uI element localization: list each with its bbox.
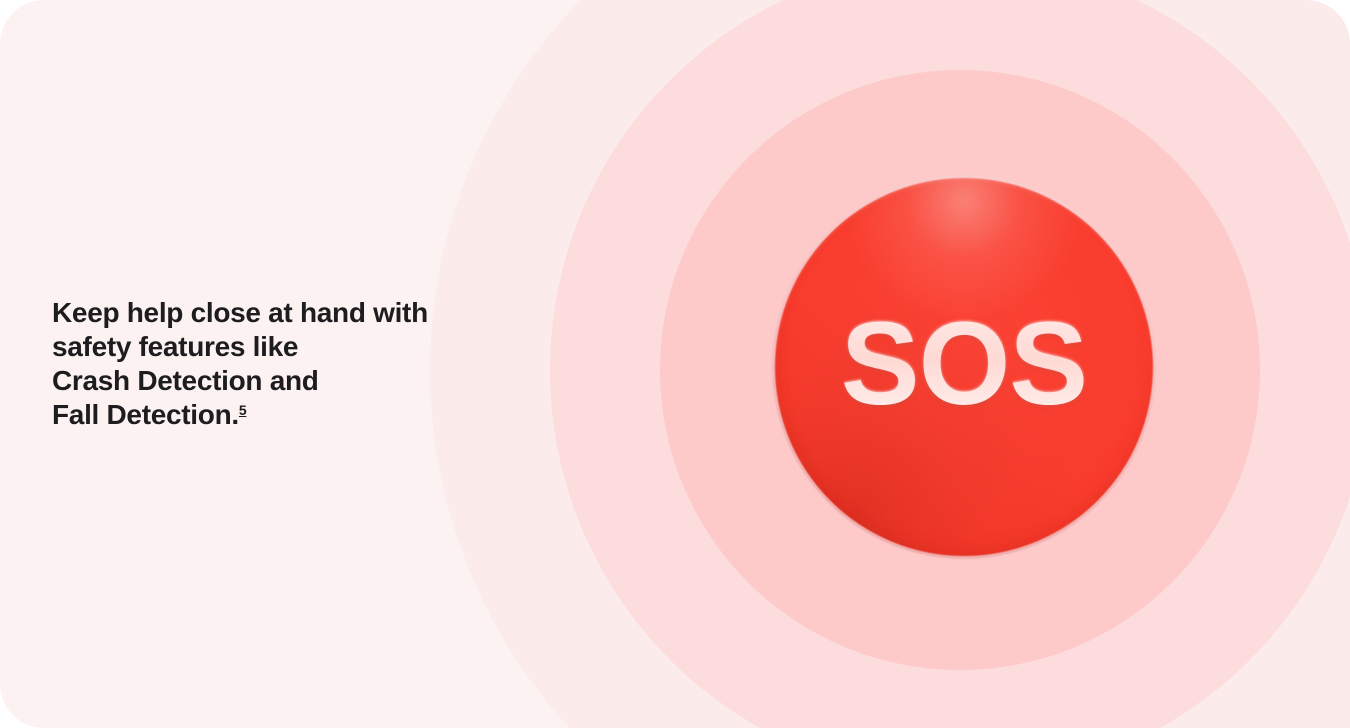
- safety-feature-panel: Keep help close at hand with safety feat…: [0, 0, 1350, 728]
- headline: Keep help close at hand with safety feat…: [52, 296, 522, 432]
- headline-line-1: Keep help close at hand with: [52, 296, 522, 330]
- sos-button[interactable]: SOS: [775, 178, 1153, 556]
- sos-button-label: SOS: [775, 178, 1153, 556]
- headline-line-3: Crash Detection and: [52, 364, 522, 398]
- footnote-reference-link[interactable]: 5: [239, 402, 247, 418]
- headline-line-4: Fall Detection.5: [52, 398, 522, 432]
- headline-line-2: safety features like: [52, 330, 522, 364]
- headline-line-4-text: Fall Detection.: [52, 399, 239, 430]
